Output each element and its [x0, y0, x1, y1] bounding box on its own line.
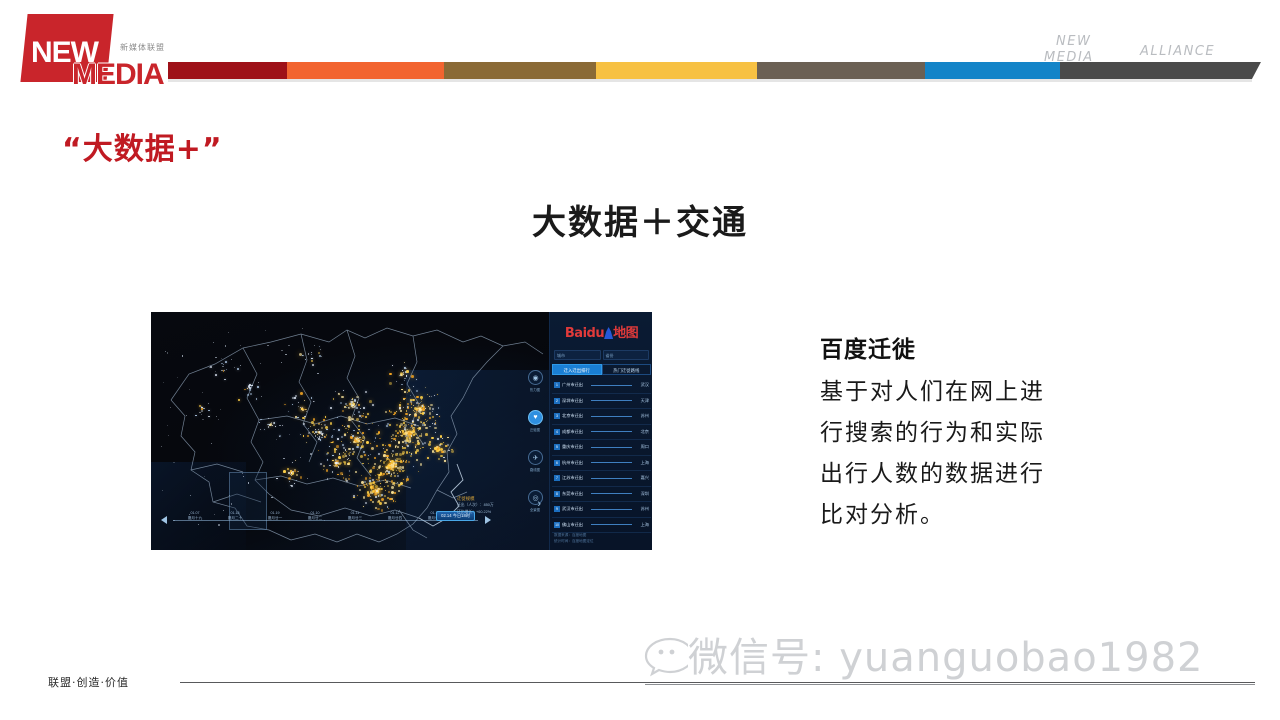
migration-dot: [404, 424, 407, 427]
migration-dot: [412, 442, 413, 443]
migration-dot: [343, 461, 346, 464]
migration-dot: [422, 412, 424, 414]
migration-dot: [215, 374, 217, 376]
migration-dot: [386, 425, 388, 427]
migration-dot: [405, 430, 406, 431]
migration-dot: [296, 474, 298, 476]
migration-dot: [412, 420, 414, 422]
migration-dot: [392, 469, 394, 471]
migration-dot: [405, 413, 408, 416]
migration-dot: [313, 418, 316, 421]
map-tool-label: 迁徙图: [523, 427, 547, 432]
new-media-logo: NEW MEDIA 新媒体联盟: [24, 14, 174, 86]
migration-dot: [332, 455, 333, 456]
migration-dot: [368, 429, 370, 431]
row-flow-line: [591, 524, 632, 525]
migration-dot: [336, 449, 337, 450]
migration-dot: [434, 395, 435, 396]
timeline-tick[interactable]: 01.11腊月廿三: [335, 511, 375, 521]
migration-dot: [257, 386, 259, 388]
row-destination: 上海: [635, 522, 649, 528]
migration-dot: [229, 495, 230, 496]
migration-dot: [432, 408, 434, 410]
migration-dot: [357, 402, 358, 403]
migration-dot: [315, 435, 317, 437]
migration-dot: [416, 396, 419, 399]
migration-dot: [367, 413, 369, 415]
migration-dot: [350, 442, 351, 443]
row-flow-line: [591, 400, 632, 401]
migration-dot: [432, 416, 434, 418]
migration-dot: [343, 390, 344, 391]
migration-ranking-list[interactable]: 1广州市迁出武汉2深圳市迁出天津3北京市迁出苏州4成都市迁出北京5重庆市迁出周口…: [552, 378, 651, 533]
colorbar-segment-brown: [444, 62, 596, 79]
row-origin: 佛山市迁出: [562, 522, 588, 528]
migration-dot: [234, 367, 235, 368]
migration-dot: [416, 379, 417, 380]
description-heading: 百度迁徙: [820, 330, 1120, 364]
migration-dot: [330, 442, 331, 443]
migration-dot: [364, 454, 366, 456]
migration-dot: [381, 498, 384, 501]
migration-dot: [168, 435, 169, 436]
ranking-row[interactable]: 8东莞市迁出深圳: [552, 487, 651, 503]
migration-dot: [300, 457, 301, 458]
migration-dot: [440, 448, 443, 451]
row-origin: 杭州市迁出: [562, 460, 588, 466]
migration-dot: [391, 464, 392, 465]
timeline-tick[interactable]: 01.10腊月廿二: [295, 511, 335, 521]
migration-dot: [283, 470, 286, 473]
migration-dot: [404, 391, 406, 393]
migration-dot: [358, 429, 360, 431]
migration-dot: [409, 452, 410, 453]
wechat-smiley-icon: [640, 631, 688, 677]
migration-dot: [337, 462, 339, 464]
migration-dot: [340, 472, 343, 475]
migration-dot: [320, 463, 322, 465]
migration-dot: [388, 473, 389, 474]
footer-slogan: 联盟·创造·价值: [48, 674, 129, 690]
migration-dot: [311, 354, 312, 355]
migration-dot: [392, 450, 394, 452]
migration-dot: [311, 358, 313, 360]
row-rank: 1: [554, 382, 560, 388]
migration-dot: [375, 493, 377, 495]
wechat-id-text: 微信号: yuanguobao1982: [688, 625, 1203, 683]
migration-dot: [300, 392, 303, 395]
migration-dot: [397, 446, 399, 448]
baidu-migration-screenshot: 01.07腊月十九01.18腊月二十01.19腊月廿一01.10腊月廿二01.1…: [151, 312, 652, 550]
migration-dot: [400, 410, 402, 412]
migration-dot: [416, 402, 418, 404]
migration-dot: [387, 423, 389, 425]
migration-dot: [348, 448, 351, 451]
wechat-watermark: 微信号: yuanguobao1982: [640, 624, 1260, 684]
migration-dot: [425, 419, 426, 420]
ranking-row[interactable]: 6杭州市迁出上海: [552, 456, 651, 472]
province-search-input[interactable]: 省份: [603, 350, 650, 360]
migration-dot: [335, 462, 336, 463]
ranking-row[interactable]: 5重庆市迁出周口: [552, 440, 651, 456]
map-tool-热力图-icon[interactable]: ◉: [528, 370, 543, 385]
migration-dot: [326, 469, 328, 471]
migration-dot: [393, 462, 395, 464]
migration-dot: [240, 365, 241, 366]
tick-lunar: 腊月十九: [175, 516, 215, 521]
migration-dot: [349, 452, 350, 453]
description-text-block: 百度迁徙 基于对人们在网上进行搜索的行为和实际出行人数的数据进行比对分析。: [820, 330, 1120, 536]
migration-dot: [402, 441, 404, 443]
migration-dot: [339, 453, 341, 455]
migration-dot: [275, 426, 276, 427]
row-flow-line: [591, 385, 632, 386]
description-body: 基于对人们在网上进行搜索的行为和实际出行人数的数据进行比对分析。: [820, 372, 1120, 536]
panel-tabs[interactable]: 迁入迁出排行热门迁徙路线: [552, 364, 651, 375]
baidu-side-panel: Baidu地图 城市 省份 迁入迁出排行热门迁徙路线 1广州市迁出武汉2深圳市迁…: [549, 312, 652, 550]
migration-dot: [415, 451, 417, 453]
migration-dot: [167, 425, 169, 427]
migration-dot: [365, 477, 367, 479]
migration-dot: [292, 404, 293, 405]
migration-dot: [419, 427, 421, 429]
map-tool-label: 热力图: [523, 387, 547, 392]
baidu-paw-icon: [604, 327, 613, 339]
migration-dot: [417, 419, 418, 420]
migration-dot: [354, 399, 356, 401]
migration-dot: [189, 389, 190, 390]
migration-dot: [403, 433, 405, 435]
brand-new-text: NEW: [1056, 34, 1091, 49]
migration-dot: [338, 456, 341, 459]
row-rank: 7: [554, 475, 560, 481]
row-rank: 10: [554, 522, 560, 528]
migration-dot: [404, 367, 406, 369]
migration-dot: [173, 462, 175, 464]
migration-dot: [318, 450, 319, 451]
migration-dot: [182, 355, 183, 356]
migration-dot: [375, 507, 377, 509]
migration-dot: [298, 406, 299, 407]
tick-lunar: 腊月廿三: [335, 516, 375, 521]
migration-dot: [265, 330, 266, 331]
migration-dot: [249, 384, 251, 386]
migration-dot: [237, 368, 239, 370]
migration-dot: [399, 458, 401, 460]
row-rank: 8: [554, 491, 560, 497]
migration-dot: [416, 449, 419, 452]
migration-dot: [397, 467, 399, 469]
migration-dot: [404, 380, 405, 381]
migration-dot: [348, 419, 350, 421]
map-timeline[interactable]: 01.07腊月十九01.18腊月二十01.19腊月廿一01.10腊月廿二01.1…: [161, 511, 491, 533]
migration-dot: [376, 445, 378, 447]
row-origin: 广州市迁出: [562, 382, 588, 388]
migration-dot: [401, 430, 403, 432]
migration-dot: [314, 433, 315, 434]
migration-dot: [358, 411, 360, 413]
row-flow-line: [591, 493, 632, 494]
migration-dot: [442, 438, 443, 439]
migration-dot: [356, 418, 359, 421]
migration-dot: [413, 405, 414, 406]
migration-dot: [399, 375, 400, 376]
colorbar-segment-warm-gray: [757, 62, 925, 79]
china-map-canvas: 01.07腊月十九01.18腊月二十01.19腊月廿一01.10腊月廿二01.1…: [151, 312, 549, 550]
migration-dot: [427, 420, 428, 421]
row-origin: 成都市迁出: [562, 429, 588, 435]
migration-dot: [329, 446, 330, 447]
migration-dot: [414, 429, 415, 430]
migration-dot: [161, 446, 162, 447]
description-line: 比对分析。: [820, 495, 1120, 536]
section-label: “大数据+”: [62, 124, 223, 168]
migration-dot: [383, 473, 385, 475]
row-destination: 周口: [635, 444, 649, 450]
timeline-tick[interactable]: 01.07腊月十九: [175, 511, 215, 521]
description-line: 出行人数的数据进行: [820, 454, 1120, 495]
migration-dot: [379, 502, 382, 505]
migration-dot: [294, 397, 295, 398]
row-destination: 苏州: [635, 506, 649, 512]
migration-dot: [436, 450, 439, 453]
ranking-row[interactable]: 7江苏市迁出嘉兴: [552, 471, 651, 487]
migration-dot: [405, 418, 408, 421]
timeline-next-arrow[interactable]: [485, 516, 491, 524]
migration-dot: [431, 437, 434, 440]
migration-dot: [391, 486, 394, 489]
migration-dot: [341, 396, 343, 398]
logo-media-text: MEDIA: [72, 58, 164, 92]
map-tool-迁徙图-icon[interactable]: ♥: [528, 410, 543, 425]
migration-dot: [378, 488, 380, 490]
ranking-row[interactable]: 10佛山市迁出上海: [552, 518, 651, 534]
migration-dot: [202, 419, 203, 420]
migration-dot: [342, 425, 343, 426]
migration-dot: [410, 441, 411, 442]
row-flow-line: [591, 447, 632, 448]
tick-lunar: 腊月二十: [215, 516, 255, 521]
city-search-input[interactable]: 城市: [554, 350, 601, 360]
migration-dot: [305, 409, 307, 411]
migration-dot: [385, 482, 386, 483]
timeline-tick[interactable]: 01.19腊月廿一: [255, 511, 295, 521]
header-colorbar-shadow: [168, 79, 1252, 82]
migration-dot: [396, 470, 397, 471]
migration-dot: [288, 411, 289, 412]
ranking-row[interactable]: 1广州市迁出武汉: [552, 378, 651, 394]
migration-dot: [306, 442, 307, 443]
migration-dot: [225, 361, 227, 363]
migration-dot: [310, 453, 312, 455]
ranking-row[interactable]: 3北京市迁出苏州: [552, 409, 651, 425]
migration-dot: [412, 399, 415, 402]
migration-dot: [364, 481, 366, 483]
migration-dot: [403, 419, 405, 421]
migration-dot: [338, 393, 339, 394]
tick-lunar: 腊月廿四: [375, 516, 415, 521]
panel-search-row[interactable]: 城市 省份: [554, 350, 649, 360]
timeline-prev-arrow[interactable]: [161, 516, 167, 524]
baidu-logo: Baidu地图: [550, 322, 652, 346]
migration-dot: [422, 408, 425, 411]
migration-dot: [395, 453, 398, 456]
slide-header: NEW MEDIA 新媒体联盟 NEW MEDIA ALLIANCE: [0, 0, 1280, 110]
migration-legend: 迁徙规模 迁出（人次）：850万 环比增长：+60.22%: [457, 495, 519, 516]
panel-tab[interactable]: 热门迁徙路线: [602, 364, 652, 375]
ranking-row[interactable]: 2深圳市迁出天津: [552, 394, 651, 410]
migration-dot: [395, 440, 396, 441]
timeline-tick[interactable]: 01.12腊月廿四: [375, 511, 415, 521]
watermark-rule: [645, 684, 1255, 685]
migration-dot: [325, 416, 326, 417]
migration-dot: [420, 402, 421, 403]
migration-dot: [361, 445, 364, 448]
baidu-logo-suffix: 地图: [613, 326, 638, 341]
colorbar-segment-orange: [287, 62, 444, 79]
migration-dot: [359, 489, 361, 491]
migration-dot: [442, 443, 444, 445]
migration-dot: [323, 465, 326, 468]
migration-dot: [384, 451, 386, 453]
migration-dot: [340, 402, 342, 404]
migration-dot: [357, 495, 358, 496]
migration-dot: [399, 407, 401, 409]
ranking-row[interactable]: 4成都市迁出北京: [552, 425, 651, 441]
legend-line-1: 迁出（人次）：850万: [457, 502, 519, 509]
migration-dot: [427, 457, 429, 459]
migration-dot: [429, 412, 432, 415]
row-rank: 4: [554, 429, 560, 435]
migration-dot: [403, 460, 405, 462]
migration-dot: [388, 491, 390, 493]
row-flow-line: [591, 416, 632, 417]
migration-dot: [407, 406, 409, 408]
migration-dot: [376, 433, 379, 436]
migration-dot: [326, 434, 328, 436]
migration-dot: [341, 436, 343, 438]
migration-dot: [353, 495, 355, 497]
legend-title: 迁徙规模: [457, 495, 519, 502]
map-tool-路线图-icon[interactable]: ✈: [528, 450, 543, 465]
row-rank: 9: [554, 506, 560, 512]
migration-dot: [345, 478, 348, 481]
migration-dot: [208, 403, 209, 404]
migration-dot: [365, 502, 367, 504]
migration-dot: [415, 408, 418, 411]
migration-dot: [386, 455, 389, 458]
migration-dot: [303, 423, 305, 425]
migration-dot: [444, 460, 445, 461]
alliance-brandmark: NEW MEDIA ALLIANCE: [1022, 28, 1252, 72]
row-destination: 上海: [635, 460, 649, 466]
migration-dot: [369, 477, 371, 479]
migration-dot: [426, 421, 427, 422]
migration-dot: [425, 433, 428, 436]
migration-dot: [307, 435, 309, 437]
logo-chinese-text: 新媒体联盟: [120, 42, 165, 53]
tick-lunar: 腊月廿一: [255, 516, 295, 521]
row-destination: 嘉兴: [635, 475, 649, 481]
migration-dot: [410, 433, 412, 435]
legend-next-arrow-icon[interactable]: ›: [537, 498, 541, 510]
migration-dot: [397, 473, 398, 474]
row-flow-line: [591, 478, 632, 479]
row-destination: 苏州: [635, 413, 649, 419]
row-origin: 北京市迁出: [562, 413, 588, 419]
row-origin: 江苏市迁出: [562, 475, 588, 481]
row-destination: 天津: [635, 398, 649, 404]
migration-dot: [393, 482, 395, 484]
baidu-logo-text: Baidu: [565, 326, 604, 341]
migration-dot: [208, 416, 209, 417]
row-origin: 东莞市迁出: [562, 491, 588, 497]
migration-dot: [311, 360, 313, 362]
migration-dot: [388, 471, 390, 473]
row-flow-line: [591, 462, 632, 463]
row-rank: 5: [554, 444, 560, 450]
migration-dot: [411, 375, 414, 378]
colorbar-segment-dark-red: [168, 62, 287, 79]
migration-dot: [409, 415, 410, 416]
migration-dot: [396, 411, 397, 412]
migration-dot: [378, 476, 381, 479]
timeline-tick[interactable]: 01.18腊月二十: [215, 511, 255, 521]
migration-dot: [363, 506, 364, 507]
brand-media-text: MEDIA: [1044, 50, 1094, 65]
migration-dot: [359, 437, 360, 438]
migration-dot: [336, 445, 339, 448]
footer-rule: [180, 682, 1255, 683]
migration-dot: [370, 443, 371, 444]
migration-dot: [369, 400, 372, 403]
migration-dot: [406, 370, 409, 373]
migration-dot: [201, 414, 202, 415]
migration-dot: [352, 435, 354, 437]
panel-tab[interactable]: 迁入迁出排行: [552, 364, 602, 375]
migration-dot: [437, 438, 439, 440]
migration-dot: [186, 415, 187, 416]
row-origin: 重庆市迁出: [562, 444, 588, 450]
migration-dot: [394, 475, 396, 477]
migration-dot: [411, 407, 412, 408]
ranking-row[interactable]: 9武汉市迁出苏州: [552, 502, 651, 518]
migration-dot: [398, 484, 400, 486]
migration-dot: [404, 378, 405, 379]
timeline-current-top: 02.14: [441, 513, 451, 518]
description-line: 行搜索的行为和实际: [820, 413, 1120, 454]
migration-dot: [392, 455, 394, 457]
row-flow-line: [591, 509, 632, 510]
panel-footnotes: 数据来源：百度地图 统计时间：百度地图定位: [554, 532, 594, 544]
migration-dot: [402, 451, 405, 454]
migration-dot: [338, 393, 340, 395]
migration-dot: [388, 508, 389, 509]
migration-dot: [292, 471, 294, 473]
migration-dot: [413, 424, 414, 425]
migration-dot: [338, 429, 340, 431]
migration-dot: [365, 391, 367, 393]
map-tool-label: 路线图: [523, 467, 547, 472]
map-tool-label: 全景图: [523, 507, 547, 512]
migration-dot: [365, 416, 367, 418]
migration-dot: [402, 370, 403, 371]
migration-dot: [311, 397, 312, 398]
migration-dot: [242, 473, 243, 474]
migration-dot: [369, 470, 372, 473]
tick-lunar: 腊月廿二: [295, 516, 335, 521]
migration-dot: [414, 413, 417, 416]
